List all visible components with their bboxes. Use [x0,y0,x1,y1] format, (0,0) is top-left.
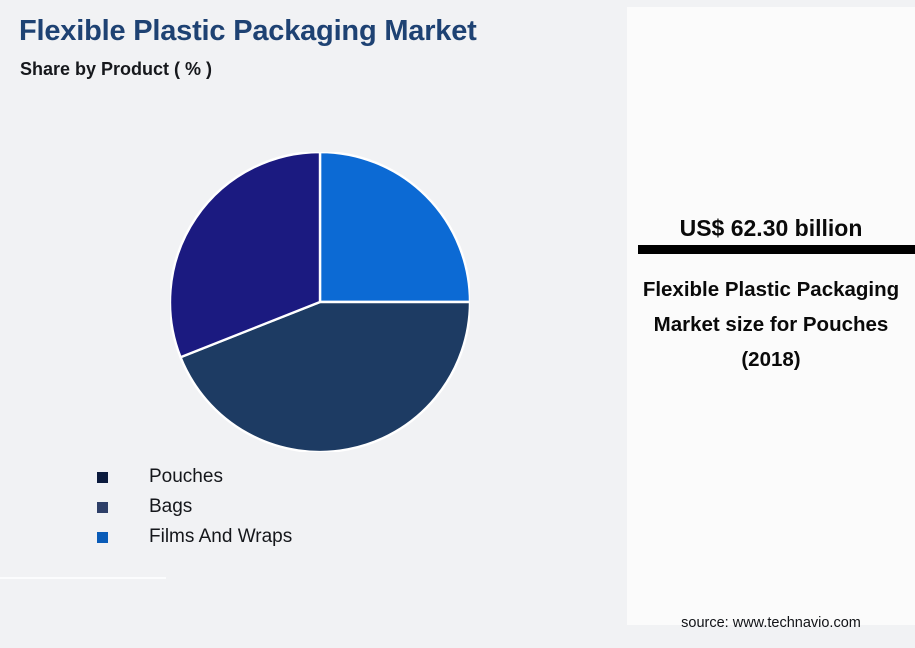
callout-divider [638,245,915,254]
legend-item-pouches[interactable]: Pouches [97,462,292,492]
legend-swatch-icon [97,532,108,543]
chart-subtitle: Share by Product ( % ) [20,59,212,80]
pie-chart [170,152,470,452]
callout-panel: US$ 62.30 billion Flexible Plastic Packa… [627,7,915,625]
source-note: source: www.technavio.com [627,615,915,631]
pie-slice-films-and-wraps[interactable] [320,152,470,302]
callout-description: Flexible Plastic Packaging Market size f… [641,272,901,377]
baseline-divider [0,577,166,579]
chart-legend: Pouches Bags Films And Wraps [97,462,292,552]
callout-value: US$ 62.30 billion [627,215,915,242]
pie-chart-svg [170,152,470,452]
legend-item-label: Pouches [149,466,223,488]
page-title: Flexible Plastic Packaging Market [19,15,477,48]
legend-item-label: Films And Wraps [149,526,292,548]
infographic-root: Flexible Plastic Packaging Market Share … [0,0,915,648]
legend-item-label: Bags [149,496,192,518]
legend-item-bags[interactable]: Bags [97,492,292,522]
chart-panel: Flexible Plastic Packaging Market Share … [0,0,627,648]
legend-swatch-icon [97,472,108,483]
legend-item-films-and-wraps[interactable]: Films And Wraps [97,522,292,552]
legend-swatch-icon [97,502,108,513]
